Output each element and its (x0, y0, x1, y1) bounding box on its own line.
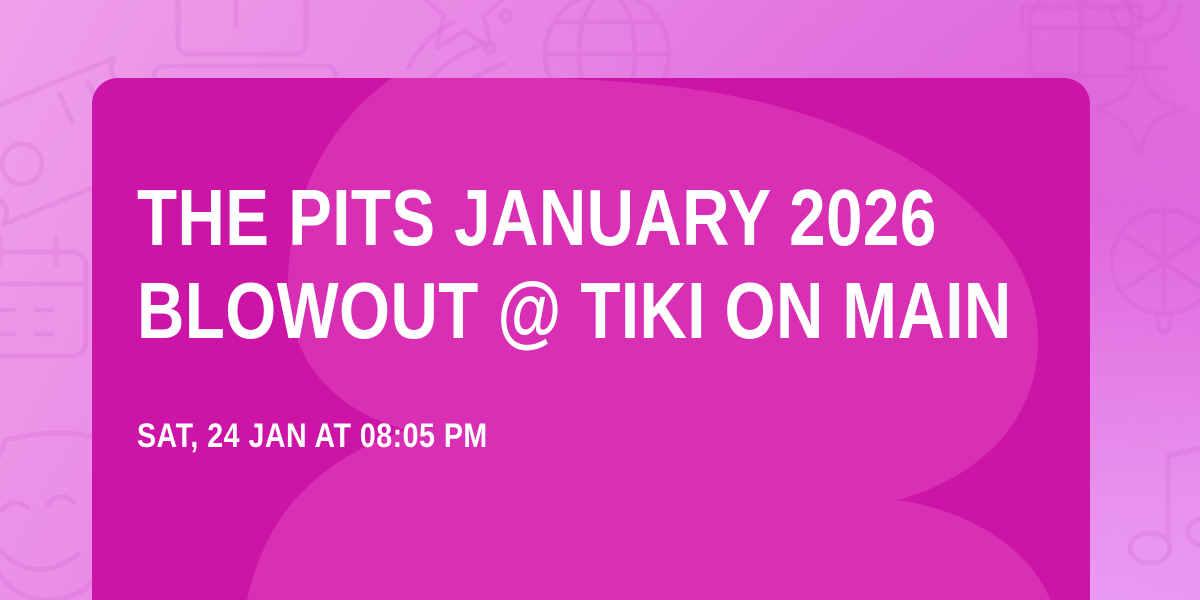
title-line-2: BLOWOUT @ TIKI ON MAIN (137, 264, 886, 357)
event-datetime: SAT, 24 JAN AT 08:05 PM (137, 357, 904, 453)
title-line-1: THE PITS JANUARY 2026 (137, 78, 886, 264)
event-card: THE PITS JANUARY 2026 BLOWOUT @ TIKI ON … (92, 78, 1090, 600)
card-content: THE PITS JANUARY 2026 BLOWOUT @ TIKI ON … (137, 78, 1050, 453)
event-banner: THE PITS JANUARY 2026 BLOWOUT @ TIKI ON … (0, 0, 1200, 600)
page-title: THE PITS JANUARY 2026 BLOWOUT @ TIKI ON … (137, 78, 886, 357)
